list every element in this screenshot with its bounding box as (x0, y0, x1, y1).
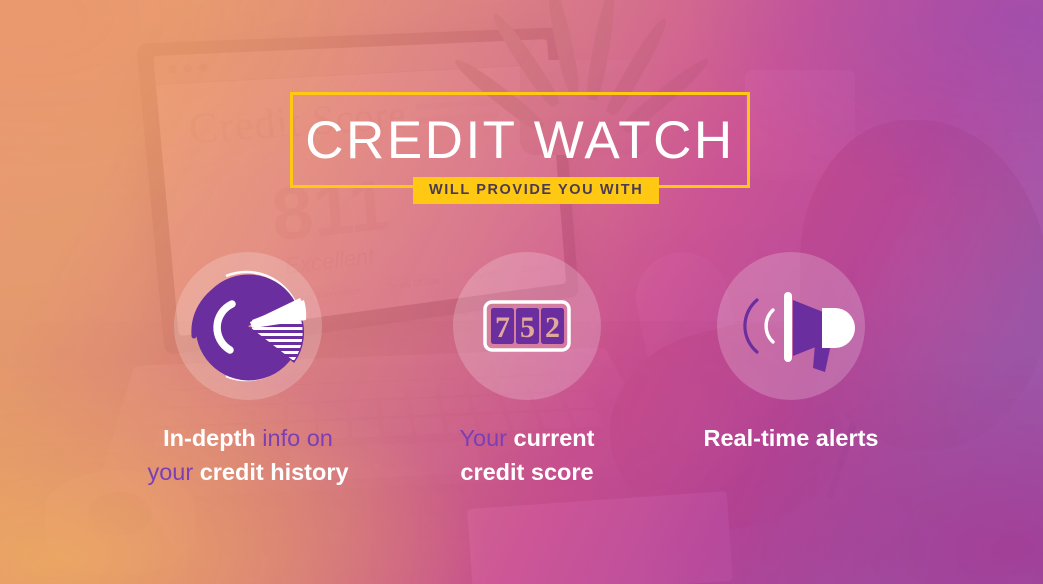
feature-item-credit-history: In-depth info on your credit history (98, 252, 398, 489)
caption-light-1: Your (460, 425, 514, 451)
feature-caption: Your current credit score (377, 422, 677, 489)
credit-score-digits-icon: 7 5 2 (459, 258, 595, 394)
feature-icon-circle (174, 252, 322, 400)
score-digit-1: 5 (520, 311, 535, 344)
pie-chart-icon (180, 258, 316, 394)
feature-caption: Real-time alerts (641, 422, 941, 456)
megaphone-icon (723, 258, 859, 394)
promo-banner: Credit Score 811 Excellent Privacy Polic… (0, 0, 1043, 584)
page-title: CREDIT WATCH (290, 92, 750, 188)
score-digit-0: 7 (495, 311, 510, 344)
feature-item-credit-score: 7 5 2 Your current credit score (377, 252, 677, 489)
caption-light-1: info on (256, 425, 333, 451)
subtitle-badge: WILL PROVIDE YOU WITH (413, 177, 659, 204)
caption-bold-1: Real-time alerts (703, 425, 878, 451)
feature-icon-circle: 7 5 2 (453, 252, 601, 400)
caption-bold-1: current (514, 425, 595, 451)
feature-caption: In-depth info on your credit history (98, 422, 398, 489)
feature-item-alerts: Real-time alerts (641, 252, 941, 456)
caption-bold-2: credit score (460, 459, 593, 485)
caption-bold-2: credit history (200, 459, 349, 485)
caption-light-2: your (147, 459, 199, 485)
caption-bold-1: In-depth (163, 425, 256, 451)
feature-icon-circle (717, 252, 865, 400)
score-digit-2: 2 (545, 311, 560, 344)
